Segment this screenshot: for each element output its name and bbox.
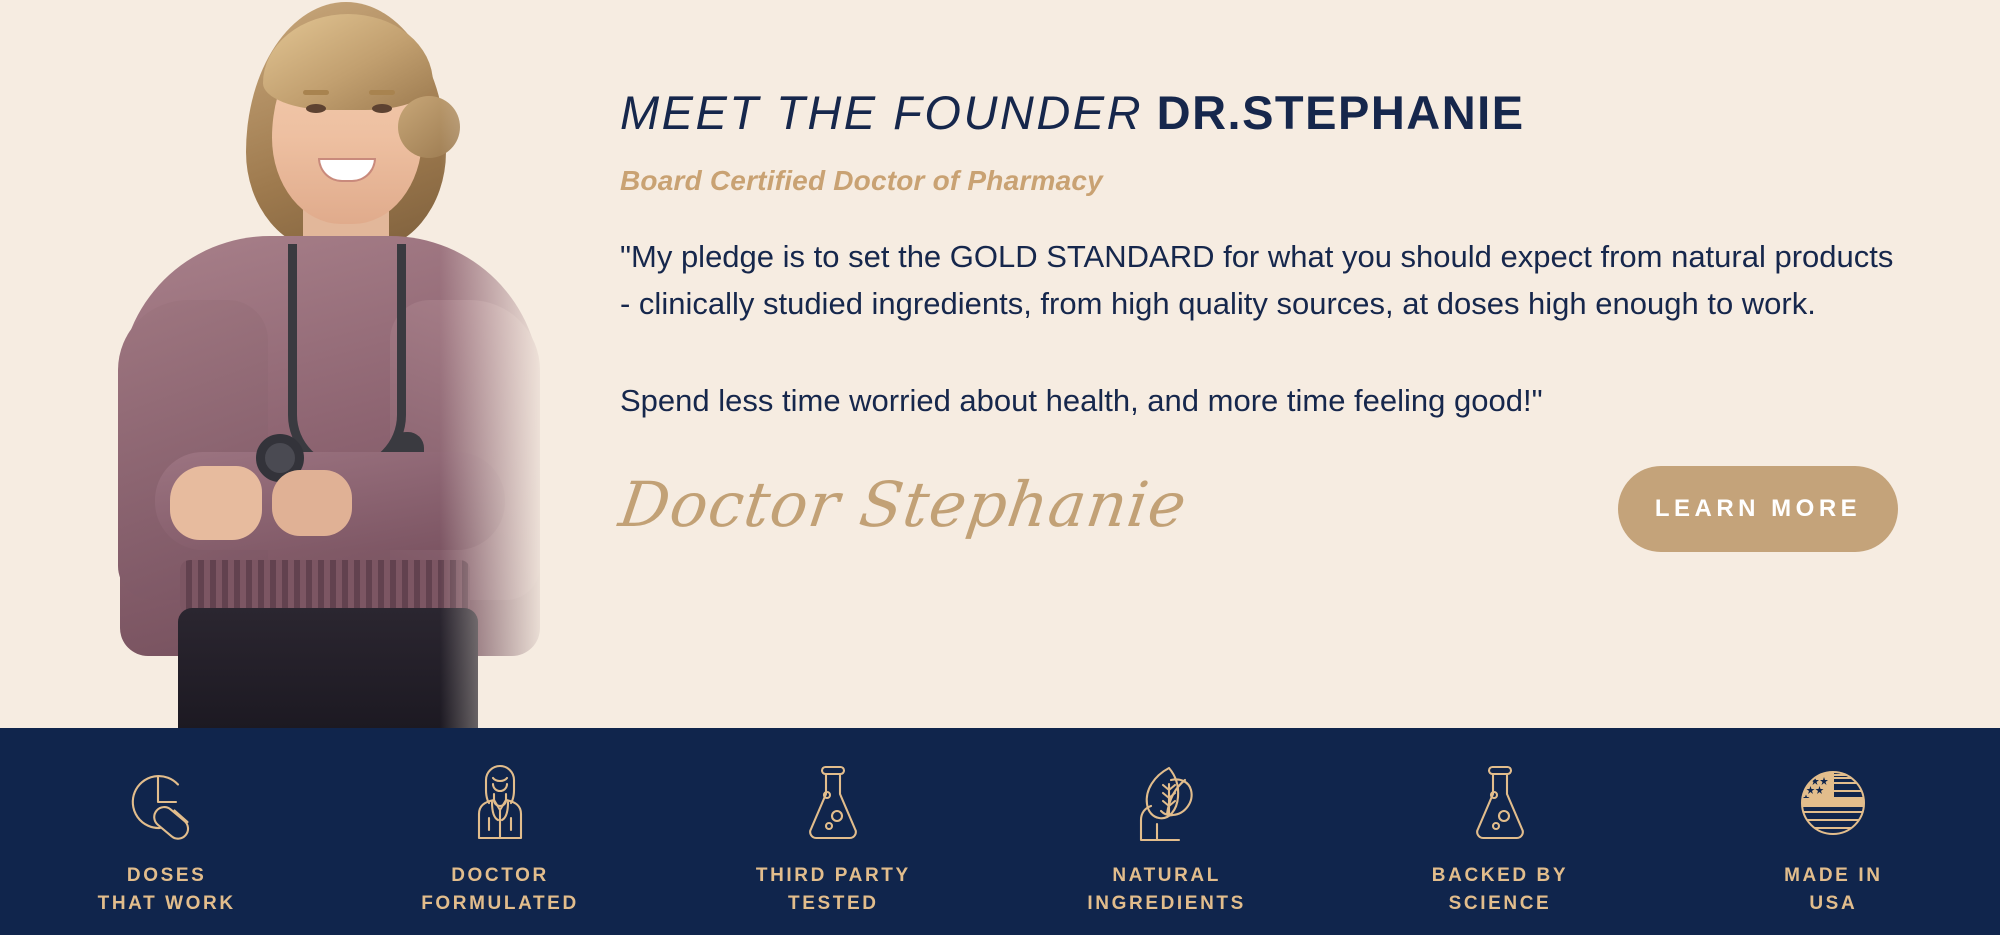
learn-more-button[interactable]: LEARN MORE: [1618, 466, 1898, 552]
portrait-waistband: [180, 560, 470, 614]
badge-backed-by-science[interactable]: BACKED BY SCIENCE: [1333, 746, 1666, 917]
badge-label: NATURAL INGREDIENTS: [1087, 862, 1245, 917]
founder-credential: Board Certified Doctor of Pharmacy: [620, 165, 1950, 197]
badge-third-party-tested[interactable]: THIRD PARTY TESTED: [667, 746, 1000, 917]
portrait-skirt: [178, 608, 478, 728]
portrait-sleeve-left: [118, 300, 268, 600]
badge-label: DOCTOR FORMULATED: [421, 862, 579, 917]
hero-section: MEET THE FOUNDER DR.STEPHANIE Board Cert…: [0, 0, 2000, 728]
badge-label: THIRD PARTY TESTED: [756, 862, 911, 917]
portrait-hand-left: [170, 466, 262, 540]
clock-pills-icon: [127, 760, 207, 846]
headline-bold-part: DR.STEPHANIE: [1157, 86, 1525, 139]
doctor-icon: [464, 760, 536, 846]
page-title: MEET THE FOUNDER DR.STEPHANIE: [620, 88, 1950, 139]
flask-icon: [1469, 760, 1531, 846]
badge-made-in-usa[interactable]: MADE IN USA: [1667, 746, 2000, 917]
founder-banner: MEET THE FOUNDER DR.STEPHANIE Board Cert…: [0, 0, 2000, 935]
pledge-paragraph: "My pledge is to set the GOLD STANDARD f…: [620, 233, 1910, 327]
signature-and-cta-row: Doctor Stephanie LEARN MORE: [620, 466, 1950, 586]
trust-badge-bar: DOSES THAT WORK DOCTOR FORMULATED: [0, 728, 2000, 935]
founder-signature: Doctor Stephanie: [615, 468, 1192, 541]
hand-leaf-icon: [1129, 760, 1205, 846]
portrait-brow-right: [369, 90, 395, 95]
portrait-hand-right: [272, 470, 352, 536]
badge-label: BACKED BY SCIENCE: [1432, 862, 1568, 917]
badge-label: DOSES THAT WORK: [98, 862, 236, 917]
portrait-brow-left: [303, 90, 329, 95]
portrait-edge-fade: [440, 0, 560, 728]
founder-portrait-image: [60, 0, 560, 728]
stethoscope-tube: [288, 244, 406, 474]
headline-light-part: MEET THE FOUNDER: [620, 86, 1143, 139]
flask-icon: [802, 760, 864, 846]
badge-doses-that-work[interactable]: DOSES THAT WORK: [0, 746, 333, 917]
usa-flag-circle-icon: [1794, 760, 1872, 846]
badge-doctor-formulated[interactable]: DOCTOR FORMULATED: [333, 746, 666, 917]
portrait-eye-right: [372, 104, 392, 113]
closing-paragraph: Spend less time worried about health, an…: [620, 377, 1950, 424]
portrait-eye-left: [306, 104, 326, 113]
badge-natural-ingredients[interactable]: NATURAL INGREDIENTS: [1000, 746, 1333, 917]
badge-label: MADE IN USA: [1784, 862, 1882, 917]
hero-copy-column: MEET THE FOUNDER DR.STEPHANIE Board Cert…: [620, 88, 1950, 586]
